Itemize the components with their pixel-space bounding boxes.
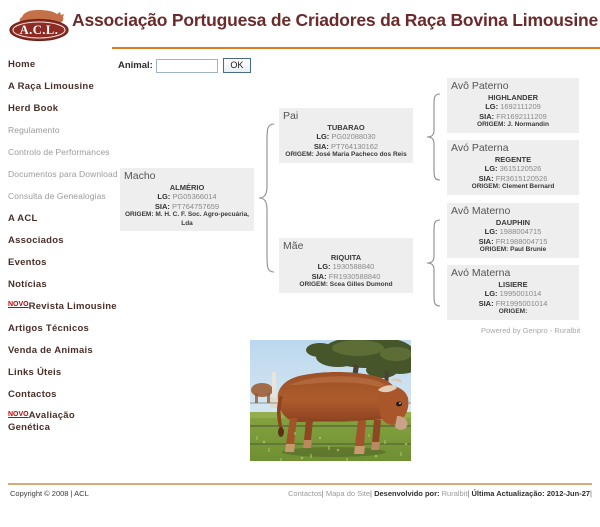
- pedigree-name: LISIERE: [451, 280, 575, 289]
- sidebar-item-a-raca-limousine[interactable]: A Raça Limousine: [0, 80, 112, 93]
- pedigree-origem-label: ORIGEM:: [472, 183, 501, 190]
- sidebar-item-label: Links Úteis: [8, 367, 61, 378]
- pedigree-origem-label: ORIGEM:: [125, 211, 154, 218]
- pedigree-sia-label: SIA:: [479, 174, 494, 183]
- pedigree-lg-value: 1930588840: [333, 262, 375, 271]
- pedigree-sia-label: SIA:: [479, 299, 494, 308]
- pedigree-lg-label: LG:: [485, 102, 498, 111]
- pedigree-sia-value: FR3615120526: [496, 174, 548, 183]
- pedigree-origem: ORIGEM:: [451, 308, 575, 317]
- pedigree-origem-value: Paul Brunie: [510, 246, 546, 253]
- pedigree-lg: LG: 1930588840: [283, 262, 409, 272]
- sidebar-item-label: Regulamento: [8, 125, 60, 135]
- footer-update-value: 2012-Jun-27: [547, 489, 590, 498]
- pedigree-sia: SIA: FR1995001014: [451, 299, 575, 309]
- pedigree-sia-label: SIA:: [312, 272, 327, 281]
- pedigree-origem-label: ORIGEM:: [477, 121, 506, 128]
- sidebar-item-label: Eventos: [8, 257, 47, 268]
- sidebar-item-documentos-para-download[interactable]: Documentos para Download: [0, 168, 112, 181]
- pedigree-name: REGENTE: [451, 155, 575, 164]
- sidebar-item-label: Associados: [8, 235, 64, 246]
- pedigree-sia: SIA: FR1692111209: [451, 112, 575, 122]
- sidebar-item-label: A ACL: [8, 213, 38, 224]
- limousine-bull-photo-icon: [250, 340, 411, 461]
- pedigree-lg: LG: 3615120526: [451, 164, 575, 174]
- pedigree-sia-label: SIA:: [314, 142, 329, 151]
- pedigree-sia-value: FR1988004715: [496, 237, 548, 246]
- pedigree-sia: SIA: FR1930588840: [283, 272, 409, 282]
- sidebar-item-label: Herd Book: [8, 103, 58, 114]
- page-root: A.C.L. Associação Portuguesa de Criadore…: [0, 0, 600, 527]
- svg-text:A.C.L.: A.C.L.: [20, 23, 59, 37]
- sidebar-item-avaliacao-genetica[interactable]: NOVOAvaliação Genética: [0, 410, 104, 434]
- sidebar-item-artigos-tecnicos[interactable]: Artigos Técnicos: [0, 322, 112, 335]
- pedigree-lg: LG: PG02088030: [283, 132, 409, 142]
- ok-button[interactable]: OK: [223, 58, 251, 73]
- pedigree-name: DAUPHIN: [451, 218, 575, 227]
- footer-separator: |: [467, 489, 469, 498]
- animal-search-input[interactable]: [156, 59, 218, 73]
- pedigree-origem: ORIGEM: Clement Bernard: [451, 183, 575, 192]
- pedigree-name: TUBARAO: [283, 123, 409, 132]
- pedigree-sia: SIA: FR3615120526: [451, 174, 575, 184]
- sidebar-item-label: Controlo de Performances: [8, 147, 110, 157]
- powered-by-credit: Powered by Genpro - Ruralbit: [481, 326, 580, 335]
- pedigree-origem-value: J. Normandin: [507, 121, 549, 128]
- pedigree-origem: ORIGEM: Paul Brunie: [451, 246, 575, 255]
- sidebar-item-consulta-de-genealogias[interactable]: Consulta de Genealogias: [0, 190, 112, 203]
- pedigree-origem-label: ORIGEM:: [285, 151, 314, 158]
- pedigree-lg-value: 3615120526: [500, 164, 542, 173]
- footer-developed-label: Desenvolvido por:: [374, 489, 439, 498]
- pedigree-lg-value: 1692111209: [500, 102, 541, 111]
- sidebar-item-label: Notícias: [8, 279, 47, 290]
- curly-brace-icon: [424, 218, 444, 308]
- pedigree-lg-label: LG:: [485, 227, 498, 236]
- pedigree-origem-label: ORIGEM:: [480, 246, 509, 253]
- pedigree-brace-parents: [256, 122, 278, 274]
- pedigree-sia: SIA: PT764130162: [283, 142, 409, 152]
- site-header: A.C.L. Associação Portuguesa de Criadore…: [0, 0, 600, 45]
- footer-link-mapa-do-site[interactable]: Mapa do Site: [326, 489, 370, 498]
- pedigree-lg: LG: 1692111209: [451, 102, 575, 112]
- pedigree-sia-value: FR1995001014: [496, 299, 548, 308]
- animal-search-bar: Animal: OK: [118, 58, 251, 73]
- footer-link-contactos[interactable]: Contactos: [288, 489, 322, 498]
- pedigree-role: Pai: [283, 110, 409, 122]
- pedigree-role: Avô Paterno: [451, 80, 575, 92]
- sidebar-item-label: Contactos: [8, 389, 57, 400]
- pedigree-role: Avó Materna: [451, 267, 575, 279]
- pedigree-sia-value: FR1692111209: [496, 112, 547, 121]
- sidebar-item-label: A Raça Limousine: [8, 81, 94, 92]
- pedigree-origem-value: M. H. C. F. Soc. Agro-pecuária, Lda: [155, 211, 249, 227]
- pedigree-sia-label: SIA:: [479, 237, 494, 246]
- pedigree-lg-value: PG02088030: [331, 132, 375, 141]
- animal-photo: [250, 340, 411, 461]
- novo-badge: NOVO: [8, 300, 29, 310]
- pedigree-role: Avó Paterna: [451, 142, 575, 154]
- curly-brace-icon: [256, 122, 278, 274]
- pedigree-box-avo-paterno: Avô Paterno HIGHLANDER LG: 1692111209 SI…: [447, 78, 579, 133]
- sidebar-item-label: Artigos Técnicos: [8, 323, 89, 334]
- sidebar-item-label: Home: [8, 59, 35, 70]
- pedigree-sia-value: PT764130162: [331, 142, 378, 151]
- pedigree-origem-value: Clement Bernard: [502, 183, 554, 190]
- pedigree-origem-value: José Maria Pacheco dos Reis: [316, 151, 407, 158]
- pedigree-name: ALMÉRIO: [124, 183, 250, 192]
- curly-brace-icon: [424, 92, 444, 182]
- acl-logo[interactable]: A.C.L.: [8, 3, 70, 43]
- footer-divider: [8, 483, 592, 485]
- pedigree-origem: ORIGEM: M. H. C. F. Soc. Agro-pecuária, …: [124, 211, 250, 228]
- pedigree-sia: SIA: FR1988004715: [451, 237, 575, 247]
- pedigree-lg-value: 1995001014: [500, 289, 542, 298]
- pedigree-lg-label: LG:: [485, 164, 498, 173]
- acl-logo-icon: A.C.L.: [8, 3, 70, 43]
- pedigree-lg: LG: PG05366014: [124, 192, 250, 202]
- pedigree-box-avo-materno: Avô Materno DAUPHIN LG: 1988004715 SIA: …: [447, 203, 579, 258]
- sidebar-item-contactos[interactable]: Contactos: [0, 388, 112, 401]
- pedigree-role: Macho: [124, 170, 250, 182]
- pedigree-brace-paternal: [424, 92, 444, 182]
- pedigree-origem: ORIGEM: J. Normandin: [451, 121, 575, 130]
- pedigree-name: HIGHLANDER: [451, 93, 575, 102]
- sidebar-item-noticias[interactable]: Notícias: [0, 278, 112, 291]
- pedigree-lg-value: 1988004715: [500, 227, 542, 236]
- sidebar-item-associados[interactable]: Associados: [0, 234, 112, 247]
- sidebar-item-label: Revista Limousine: [29, 301, 117, 312]
- novo-badge: NOVO: [8, 410, 29, 420]
- pedigree-sia: SIA: PT764757659: [124, 202, 250, 212]
- header-divider: [112, 47, 600, 49]
- pedigree-role: Mãe: [283, 240, 409, 252]
- pedigree-box-mae: Mãe RIQUITA LG: 1930588840 SIA: FR193058…: [279, 238, 413, 293]
- pedigree-role: Avô Materno: [451, 205, 575, 217]
- pedigree-box-pai: Pai TUBARAO LG: PG02088030 SIA: PT764130…: [279, 108, 413, 163]
- sidebar-item-eventos[interactable]: Eventos: [0, 256, 112, 269]
- sidebar-item-regulamento[interactable]: Regulamento: [0, 124, 112, 137]
- sidebar-item-a-acl[interactable]: A ACL: [0, 212, 112, 225]
- pedigree-box-macho: Macho ALMÉRIO LG: PG05366014 SIA: PT7647…: [120, 168, 254, 231]
- pedigree-lg: LG: 1988004715: [451, 227, 575, 237]
- pedigree-origem-label: ORIGEM:: [299, 281, 328, 288]
- pedigree-origem-value: Scea Gilles Dumond: [330, 281, 393, 288]
- footer-copyright: Copyright © 2008 | ACL: [10, 489, 89, 498]
- sidebar-item-label: Venda de Animais: [8, 345, 93, 356]
- pedigree-lg-label: LG:: [157, 192, 170, 201]
- pedigree-lg: LG: 1995001014: [451, 289, 575, 299]
- pedigree-lg-label: LG:: [485, 289, 498, 298]
- sidebar-item-controlo-de-performances[interactable]: Controlo de Performances: [0, 146, 112, 159]
- pedigree-origem-label: ORIGEM:: [499, 308, 528, 315]
- page-title: Associação Portuguesa de Criadores da Ra…: [72, 10, 598, 31]
- pedigree-sia-label: SIA:: [155, 202, 170, 211]
- footer-link-ruralbit[interactable]: Ruralbit: [442, 489, 468, 498]
- pedigree-origem: ORIGEM: Scea Gilles Dumond: [283, 281, 409, 290]
- sidebar-item-revista-limousine[interactable]: NOVORevista Limousine: [0, 300, 112, 313]
- footer-separator: |: [370, 489, 372, 498]
- main-navigation: Home A Raça Limousine Herd Book Regulame…: [0, 58, 112, 443]
- pedigree-sia-value: PT764757659: [172, 202, 219, 211]
- pedigree-lg-label: LG:: [316, 132, 329, 141]
- pedigree-origem: ORIGEM: José Maria Pacheco dos Reis: [283, 151, 409, 160]
- footer-update-label: Última Actualização:: [472, 489, 545, 498]
- sidebar-item-label: Consulta de Genealogias: [8, 191, 106, 201]
- pedigree-brace-maternal: [424, 218, 444, 308]
- pedigree-sia-value: FR1930588840: [329, 272, 381, 281]
- sidebar-item-label: Documentos para Download: [8, 169, 118, 179]
- sidebar-item-links-uteis[interactable]: Links Úteis: [0, 366, 112, 379]
- pedigree-box-avo-materna: Avó Materna LISIERE LG: 1995001014 SIA: …: [447, 265, 579, 320]
- sidebar-item-venda-de-animais[interactable]: Venda de Animais: [0, 344, 112, 357]
- footer-separator: |: [590, 489, 592, 498]
- footer-links: Contactos| Mapa do Site| Desenvolvido po…: [288, 489, 592, 498]
- pedigree-name: RIQUITA: [283, 253, 409, 262]
- footer-separator: |: [322, 489, 324, 498]
- sidebar-item-herd-book[interactable]: Herd Book: [0, 102, 112, 115]
- pedigree-sia-label: SIA:: [479, 112, 494, 121]
- sidebar-item-home[interactable]: Home: [0, 58, 112, 71]
- pedigree-lg-label: LG:: [318, 262, 331, 271]
- animal-search-label: Animal:: [118, 60, 153, 71]
- pedigree-box-avo-paterna: Avó Paterna REGENTE LG: 3615120526 SIA: …: [447, 140, 579, 195]
- pedigree-lg-value: PG05366014: [172, 192, 216, 201]
